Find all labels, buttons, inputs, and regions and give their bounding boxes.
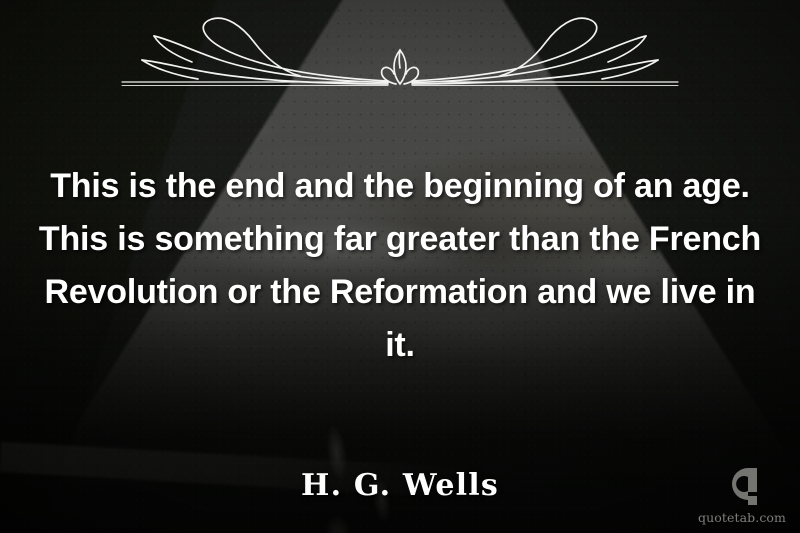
watermark[interactable]: quotetab.com — [696, 458, 788, 525]
quote-author: H. G. Wells — [0, 468, 800, 503]
watermark-site-text: quotetab.com — [696, 511, 788, 525]
flourish-divider-icon — [120, 12, 680, 94]
quote-body-text: This is the end and the beginning of an … — [0, 160, 800, 372]
quotetab-logo-icon — [716, 458, 768, 510]
background-river — [292, 383, 569, 533]
quote-card: This is the end and the beginning of an … — [0, 0, 800, 533]
